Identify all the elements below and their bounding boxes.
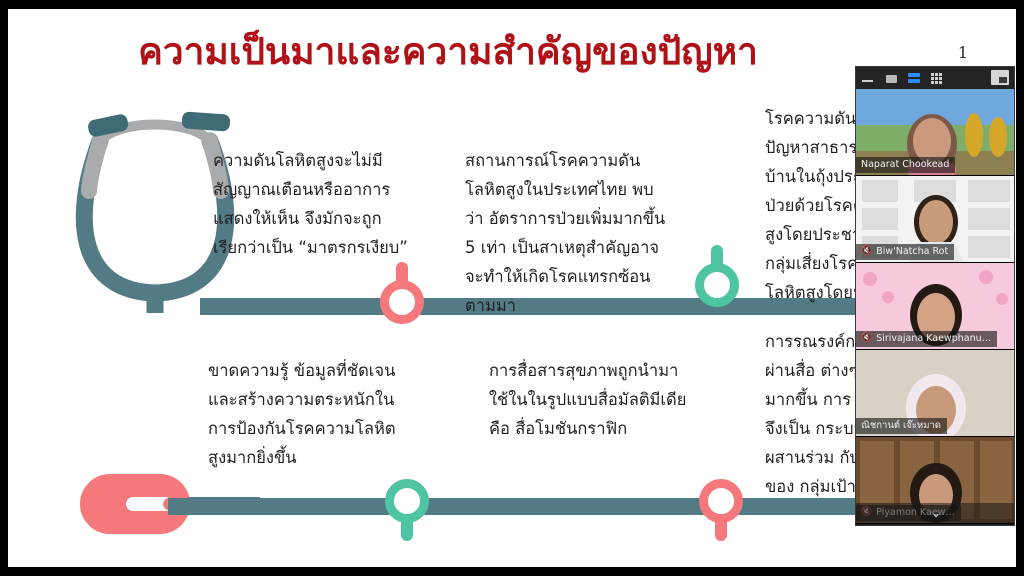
participant-tile[interactable]: 🔇 Piyamon Kaew… ⌄ [856, 437, 1015, 524]
timeline-marker-pink-top-left [380, 262, 424, 324]
participant-name: Naparat Chookead [861, 158, 949, 171]
marker-ring [695, 263, 739, 307]
window-mode-icon[interactable] [885, 72, 898, 85]
text-block-1: ความดันโลหิตสูงจะไม่มีสัญญาณเตือนหรืออาก… [213, 146, 409, 262]
participant-name-bar: Naparat Chookead [856, 157, 955, 173]
timeline-marker-green-top-right [695, 245, 739, 307]
gallery-view-icon[interactable] [931, 72, 944, 85]
marker-ring [385, 479, 429, 523]
speaker-view-icon[interactable] [908, 72, 921, 85]
video-panel-toolbar[interactable] [856, 67, 1014, 89]
slide-number: 1 [958, 43, 968, 62]
participant-tile[interactable]: Naparat Chookead [856, 89, 1015, 176]
participant-name: Biw'Natcha Rot [876, 245, 948, 258]
chevron-down-icon[interactable]: ⌄ [856, 503, 1015, 523]
screen: ความเป็นมาและความสำคัญของปัญหา 1 ความดัน… [0, 0, 1024, 576]
participant-tile[interactable]: 🔇 Biw'Natcha Rot [856, 176, 1015, 263]
mute-icon: 🔇 [861, 245, 872, 258]
participant-name-bar: 🔇 Sirivajana Kaewphanu… [856, 331, 997, 347]
participant-name-bar: 🔇 Biw'Natcha Rot [856, 244, 954, 260]
timeline-marker-pink-bottom-right [699, 479, 743, 541]
text-block-4: ขาดความรู้ ข้อมูลที่ชัดเจน และสร้างความต… [208, 356, 408, 472]
marker-ring [699, 479, 743, 523]
mute-icon: 🔇 [861, 332, 872, 345]
minimize-icon[interactable] [862, 72, 875, 85]
page-title: ความเป็นมาและความสำคัญของปัญหา [8, 29, 888, 75]
participant-name-bar: ณิชกานต์ เจ๊ะหมาด [856, 418, 947, 434]
text-block-5: การสื่อสารสุขภาพถูกนำมาใช้ในในรูปแบบสื่อ… [489, 356, 689, 443]
participant-name: ณิชกานต์ เจ๊ะหมาด [861, 419, 941, 432]
video-conference-panel[interactable]: Naparat Chookead 🔇 Biw'Natcha Rot [855, 66, 1015, 526]
participant-name: Sirivajana Kaewphanu… [876, 332, 991, 345]
participant-tile[interactable]: 🔇 Sirivajana Kaewphanu… [856, 263, 1015, 350]
marker-ring [380, 280, 424, 324]
picture-in-picture-icon[interactable] [991, 70, 1009, 85]
timeline-marker-green-bottom-left [385, 479, 429, 541]
participant-tile[interactable]: ณิชกานต์ เจ๊ะหมาด [856, 350, 1015, 437]
text-block-2: สถานการณ์โรคความดันโลหิตสูงในประเทศไทย พ… [465, 146, 670, 320]
